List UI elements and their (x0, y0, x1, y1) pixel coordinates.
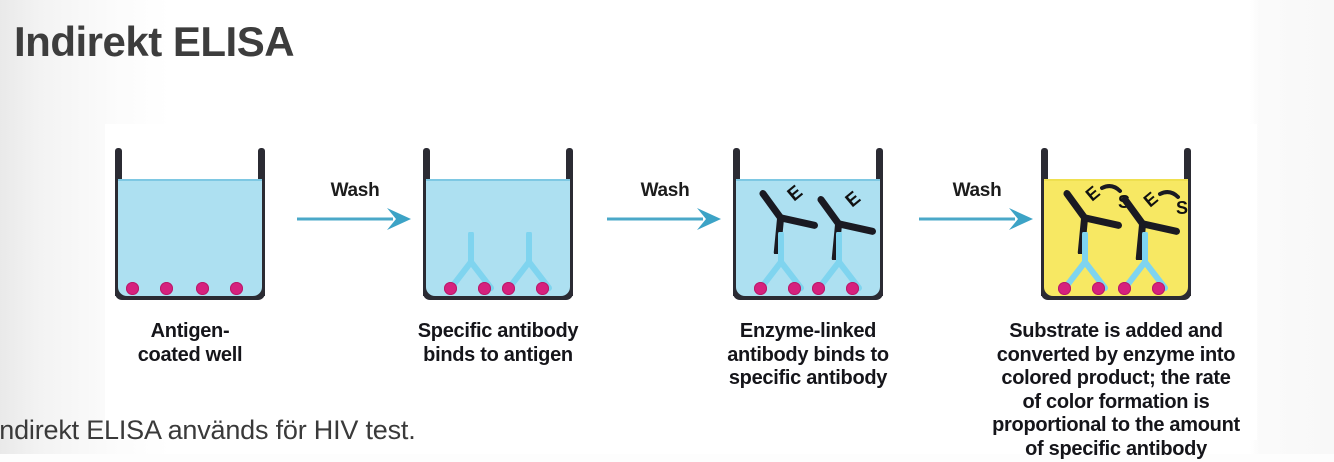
caption-line: of color formation is (983, 391, 1249, 415)
well-contents-4: E S E S (1044, 151, 1188, 296)
well-contents-3: E E (736, 151, 880, 296)
wash-step-2: Wash (605, 180, 725, 232)
reaction-arrow-icon (1160, 192, 1178, 197)
antigen-dot (160, 282, 173, 295)
antigen-dot (536, 282, 549, 295)
antigen-dot (846, 282, 859, 295)
caption-line: Antigen- (83, 320, 297, 344)
antigen-dot (478, 282, 491, 295)
well-contents-1 (118, 151, 262, 296)
caption-step-2: Specific antibody binds to antigen (391, 320, 605, 367)
antigen-dot (502, 282, 515, 295)
page-title: Indirekt ELISA (14, 18, 294, 66)
substrate-label: S (1176, 198, 1188, 218)
caption-line: converted by enzyme into (983, 344, 1249, 368)
antigen-dot (1152, 282, 1165, 295)
wash-step-1: Wash (295, 180, 415, 232)
antigen-dot (754, 282, 767, 295)
well-contents-2 (426, 151, 570, 296)
caption-line: binds to antigen (391, 344, 605, 368)
caption-line: colored product; the rate (983, 367, 1249, 391)
enzyme-label: E (842, 188, 865, 212)
caption-line: of specific antibody (983, 438, 1249, 462)
caption-step-4: Substrate is added and converted by enzy… (983, 320, 1249, 462)
antigen-dot (126, 282, 139, 295)
antigen-dot (788, 282, 801, 295)
antigen-dot (196, 282, 209, 295)
wash-label: Wash (917, 180, 1037, 202)
elisa-diagram: Antigen- coated well Wash (105, 124, 1257, 440)
wash-label: Wash (605, 180, 725, 202)
arrow-right-icon (295, 206, 413, 232)
liquid-blue (118, 179, 262, 296)
arrow-right-icon (605, 206, 723, 232)
antigen-dot (812, 282, 825, 295)
caption-line: Substrate is added and (983, 320, 1249, 344)
enzyme-label: E (1082, 182, 1104, 205)
well-step-1 (105, 148, 275, 318)
caption-line: proportional to the amount (983, 414, 1249, 438)
antigen-dot (1118, 282, 1131, 295)
wash-step-3: Wash (917, 180, 1037, 232)
enzyme-label: E (1140, 188, 1162, 211)
antigen-dot (1058, 282, 1071, 295)
caption-step-3: Enzyme-linked antibody binds to specific… (701, 320, 915, 391)
caption-line: specific antibody (701, 367, 915, 391)
caption-line: coated well (83, 344, 297, 368)
antigen-dot (444, 282, 457, 295)
caption-line: antibody binds to (701, 344, 915, 368)
caption-line: Specific antibody (391, 320, 605, 344)
caption-step-1: Antigen- coated well (83, 320, 297, 367)
caption-line: Enzyme-linked (701, 320, 915, 344)
antigen-dot (230, 282, 243, 295)
wash-label: Wash (295, 180, 415, 202)
well-step-2 (413, 148, 583, 318)
arrow-right-icon (917, 206, 1035, 232)
antigen-dot (1092, 282, 1105, 295)
well-step-3: E E (723, 148, 893, 318)
slide-body-text: Indirekt ELISA används för HIV test. (0, 415, 416, 446)
well-step-4: E S E S (1031, 148, 1201, 318)
